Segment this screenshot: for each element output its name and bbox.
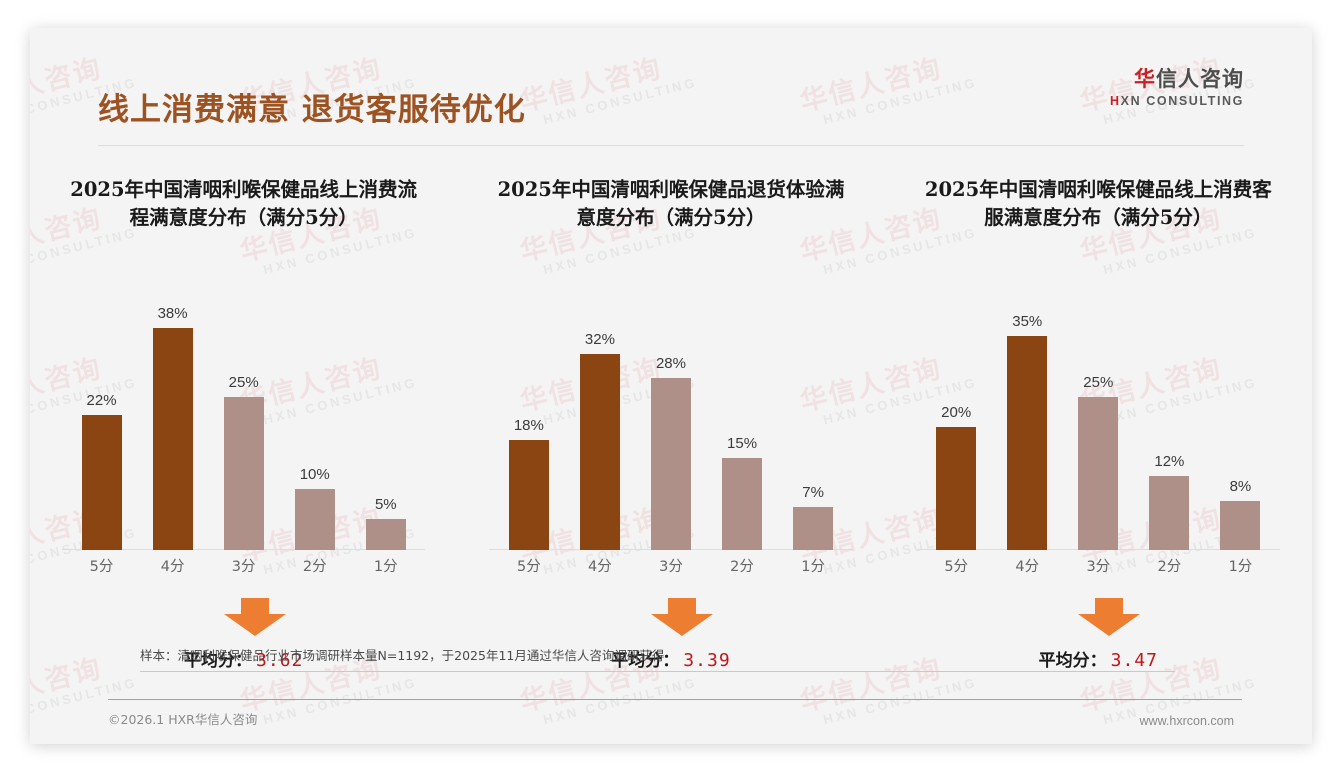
x-axis-tick-label: 5分 — [90, 555, 114, 576]
down-arrow-icon — [1078, 598, 1140, 636]
bar-value-label: 20% — [941, 404, 971, 421]
chart-plot-area: 18%5分32%4分28%3分15%2分7%1分 — [493, 268, 848, 578]
x-axis-tick-label: 1分 — [801, 555, 825, 576]
logo-english: HXN CONSULTING — [1110, 94, 1244, 108]
x-axis-tick-label: 4分 — [161, 555, 185, 576]
x-axis-tick-label: 2分 — [303, 555, 327, 576]
footnote-text: 样本：清咽利喉保健品行业市场调研样本量N=1192，于2025年11月通过华信人… — [140, 645, 1260, 671]
down-arrow-icon — [224, 598, 286, 636]
chart-plot-area: 22%5分38%4分25%3分10%2分5%1分 — [66, 268, 421, 578]
footnote-divider — [140, 671, 1175, 672]
logo-chinese: 华信人咨询 — [1110, 68, 1244, 91]
bar[interactable] — [224, 397, 264, 550]
bar[interactable] — [509, 440, 549, 550]
bar-slot: 38%4分 — [137, 305, 208, 550]
x-axis-tick-label: 3分 — [659, 555, 683, 576]
down-arrow-icon — [651, 598, 713, 636]
bar-slot: 25%3分 — [208, 305, 279, 550]
footer-divider — [108, 699, 1242, 700]
average-block: 平均分：3.62 — [40, 598, 447, 690]
logo-chinese-rest: 信人咨询 — [1156, 67, 1244, 91]
chart-title: 2025年中国清咽利喉保健品线上消费客服满意度分布（满分5分） — [895, 158, 1302, 234]
bar-value-label: 12% — [1154, 453, 1184, 470]
bar-value-label: 7% — [802, 484, 824, 501]
bar-slot: 10%2分 — [279, 305, 350, 550]
bar-value-label: 15% — [727, 435, 757, 452]
chart-title: 2025年中国清咽利喉保健品退货体验满意度分布（满分5分） — [467, 158, 874, 234]
bar-slot: 7%1分 — [778, 305, 849, 550]
company-logo: 华信人咨询 HXN CONSULTING — [1110, 68, 1244, 108]
bar-value-label: 35% — [1012, 313, 1042, 330]
x-axis-tick-label: 1分 — [1229, 555, 1253, 576]
bar-value-label: 28% — [656, 355, 686, 372]
chart-plot-area: 20%5分35%4分25%3分12%2分8%1分 — [921, 268, 1276, 578]
bar-slot: 22%5分 — [66, 305, 137, 550]
bar[interactable] — [82, 415, 122, 550]
charts-row: 2025年中国清咽利喉保健品线上消费流程满意度分布（满分5分）22%5分38%4… — [30, 158, 1312, 690]
bar-slot: 5%1分 — [350, 305, 421, 550]
bar[interactable] — [1007, 336, 1047, 550]
footer-website[interactable]: www.hxrcon.com — [1140, 714, 1234, 728]
bar-group: 20%5分35%4分25%3分12%2分8%1分 — [921, 305, 1276, 550]
bar-value-label: 25% — [1083, 374, 1113, 391]
bar-slot: 12%2分 — [1134, 305, 1205, 550]
bar-value-label: 32% — [585, 331, 615, 348]
bar[interactable] — [1220, 501, 1260, 550]
x-axis-tick-label: 4分 — [588, 555, 612, 576]
bar[interactable] — [153, 328, 193, 550]
bar[interactable] — [1149, 476, 1189, 550]
average-block: 平均分：3.39 — [467, 598, 874, 690]
bar-slot: 32%4分 — [564, 305, 635, 550]
chart-title: 2025年中国清咽利喉保健品线上消费流程满意度分布（满分5分） — [40, 158, 447, 234]
bar-value-label: 38% — [158, 305, 188, 322]
bar-slot: 28%3分 — [635, 305, 706, 550]
chart-panel: 2025年中国清咽利喉保健品退货体验满意度分布（满分5分）18%5分32%4分2… — [457, 158, 884, 690]
x-axis-tick-label: 5分 — [944, 555, 968, 576]
x-axis-tick-label: 5分 — [517, 555, 541, 576]
bar[interactable] — [651, 378, 691, 550]
logo-english-first-char: H — [1110, 94, 1121, 108]
bar-slot: 25%3分 — [1063, 305, 1134, 550]
bar[interactable] — [793, 507, 833, 550]
bar-value-label: 25% — [229, 374, 259, 391]
bar-slot: 18%5分 — [493, 305, 564, 550]
slide-header: 线上消费满意 退货客服待优化 华信人咨询 HXN CONSULTING — [30, 28, 1312, 130]
page-title: 线上消费满意 退货客服待优化 — [98, 84, 526, 129]
x-axis-tick-label: 1分 — [374, 555, 398, 576]
bar-slot: 15%2分 — [707, 305, 778, 550]
logo-chinese-first-char: 华 — [1134, 67, 1156, 91]
x-axis-tick-label: 4分 — [1015, 555, 1039, 576]
x-axis-tick-label: 3分 — [1086, 555, 1110, 576]
x-axis-tick-label: 3分 — [232, 555, 256, 576]
bar-group: 18%5分32%4分28%3分15%2分7%1分 — [493, 305, 848, 550]
bar[interactable] — [936, 427, 976, 550]
header-divider — [98, 145, 1244, 146]
bar[interactable] — [295, 489, 335, 550]
average-block: 平均分：3.47 — [895, 598, 1302, 690]
bar-value-label: 10% — [300, 466, 330, 483]
footer-copyright: ©2026.1 HXR华信人咨询 — [108, 709, 257, 728]
bar-slot: 20%5分 — [921, 305, 992, 550]
x-axis-tick-label: 2分 — [730, 555, 754, 576]
bar[interactable] — [366, 519, 406, 550]
bar-value-label: 5% — [375, 496, 397, 513]
bar-value-label: 22% — [87, 392, 117, 409]
slide-canvas: 华信人咨询HXN CONSULTING华信人咨询HXN CONSULTING华信… — [30, 28, 1312, 744]
bar[interactable] — [722, 458, 762, 550]
chart-panel: 2025年中国清咽利喉保健品线上消费流程满意度分布（满分5分）22%5分38%4… — [30, 158, 457, 690]
footnote: 样本：清咽利喉保健品行业市场调研样本量N=1192，于2025年11月通过华信人… — [140, 645, 1260, 672]
bar-group: 22%5分38%4分25%3分10%2分5%1分 — [66, 305, 421, 550]
bar-value-label: 8% — [1230, 478, 1252, 495]
bar-slot: 8%1分 — [1205, 305, 1276, 550]
x-axis-tick-label: 2分 — [1158, 555, 1182, 576]
bar[interactable] — [1078, 397, 1118, 550]
logo-english-rest: XN CONSULTING — [1121, 94, 1244, 108]
chart-panel: 2025年中国清咽利喉保健品线上消费客服满意度分布（满分5分）20%5分35%4… — [885, 158, 1312, 690]
bar[interactable] — [580, 354, 620, 550]
bar-value-label: 18% — [514, 417, 544, 434]
bar-slot: 35%4分 — [992, 305, 1063, 550]
